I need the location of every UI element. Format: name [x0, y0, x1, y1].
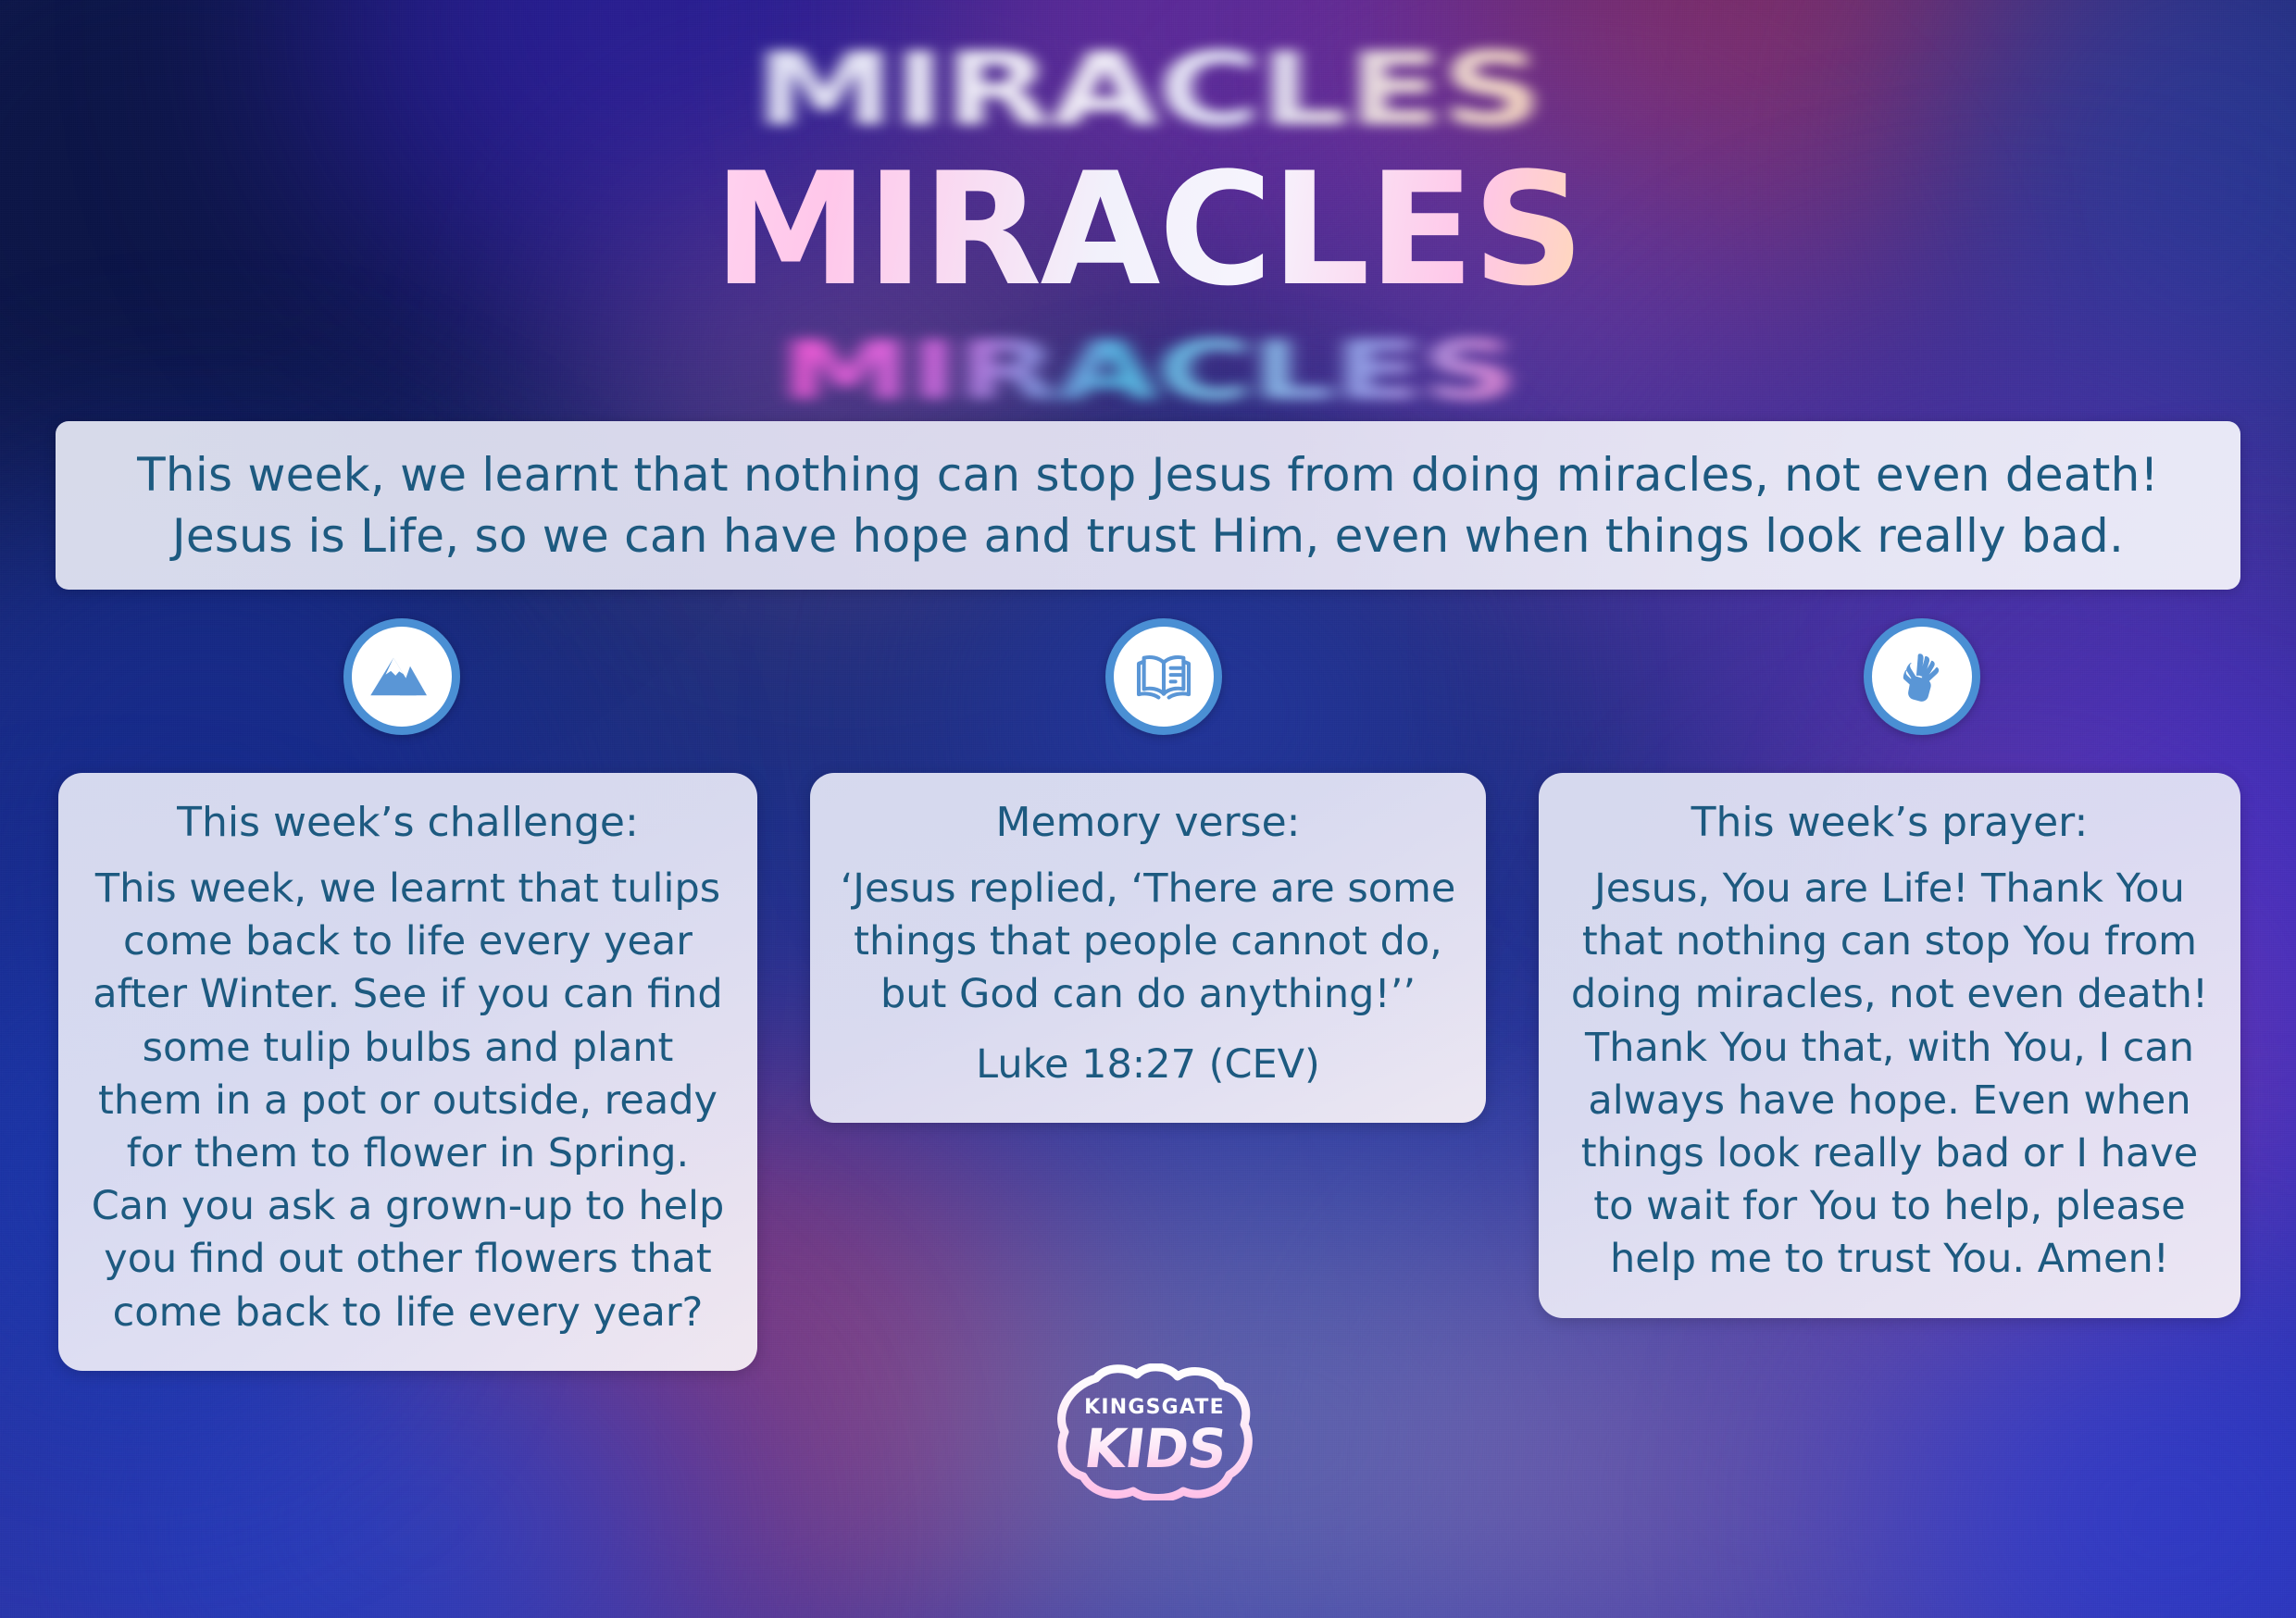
mountain-icon	[343, 618, 460, 735]
challenge-body: This week, we learnt that tulips come ba…	[86, 863, 730, 1339]
summary-banner: This week, we learnt that nothing can st…	[56, 421, 2240, 590]
kingsgate-kids-logo: KINGSGATE KIDS	[1052, 1363, 1257, 1500]
title-echo-top: MIRACLES	[755, 31, 1541, 148]
prayer-body: Jesus, You are Life! Thank You that noth…	[1566, 863, 2213, 1287]
icon-row	[0, 618, 2296, 739]
verse-reference: Luke 18:27 (CEV)	[838, 1039, 1458, 1091]
verse-heading: Memory verse:	[838, 797, 1458, 848]
verse-body: ‘Jesus replied, ‘There are some things t…	[838, 863, 1458, 1022]
logo-kingsgate-text: KINGSGATE	[1084, 1396, 1225, 1419]
title-echo-bottom: MIRACLES	[780, 323, 1516, 417]
summary-text: This week, we learnt that nothing can st…	[100, 444, 2196, 566]
memory-verse-card: Memory verse: ‘Jesus replied, ‘There are…	[810, 773, 1486, 1123]
challenge-heading: This week’s challenge:	[86, 797, 730, 848]
open-book-icon	[1105, 618, 1222, 735]
challenge-card: This week’s challenge: This week, we lea…	[58, 773, 757, 1371]
praying-hands-icon	[1864, 618, 1980, 735]
title-block: MIRACLES MIRACLES MIRACLES	[0, 0, 2296, 417]
page-title: MIRACLES	[713, 139, 1582, 320]
logo-kids-text: KIDS	[1080, 1417, 1229, 1480]
prayer-card: This week’s prayer: Jesus, You are Life!…	[1539, 773, 2240, 1318]
slide-root: MIRACLES MIRACLES MIRACLES This week, we…	[0, 0, 2296, 1618]
prayer-heading: This week’s prayer:	[1566, 797, 2213, 848]
